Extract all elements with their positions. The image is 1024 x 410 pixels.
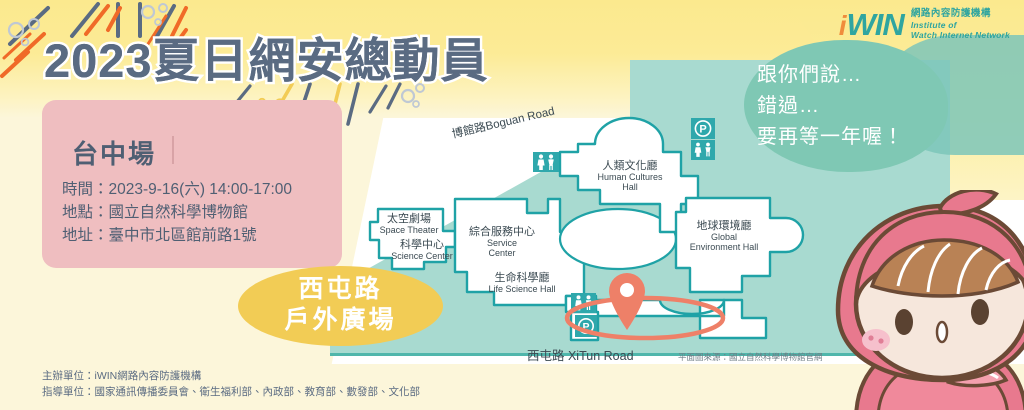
- event-time: 時間：2023-9-16(六) 14:00-17:00: [62, 178, 292, 201]
- speech-line-1: 跟你們說…: [757, 60, 947, 91]
- footer-supervisors: 指導單位：國家通訊傳播委員會、衛生福利部、內政部、教育部、數發部、文化部: [42, 384, 420, 400]
- logo-org-en-1: Institute of: [911, 20, 1010, 30]
- life-science-zh: 生命科學廳: [473, 272, 571, 284]
- iwin-logo[interactable]: i WIN 網路內容防護機構 Institute of Watch Intern…: [839, 8, 1010, 40]
- info-divider: [172, 136, 174, 164]
- service-center-en-1: Service: [461, 238, 543, 248]
- map-label-life-science-hall: 生命科學廳 Life Science Hall: [473, 272, 571, 294]
- event-venue: 地點：國立自然科學博物館: [62, 201, 292, 224]
- human-cultures-zh: 人類文化廳: [574, 160, 686, 172]
- science-center-en: Science Center: [384, 251, 460, 261]
- science-center-zh: 科學中心: [384, 239, 460, 251]
- map-label-human-cultures-hall: 人類文化廳 Human Cultures Hall: [574, 160, 686, 192]
- road-label-xitun-text: 西屯路 XiTun Road: [527, 349, 634, 363]
- logo-win-mark: WIN: [847, 9, 904, 40]
- service-center-en-2: Center: [461, 248, 543, 258]
- event-address: 地址：臺中市北區館前路1號: [62, 224, 292, 247]
- logo-org-en-2: Watch Internet Network: [911, 30, 1010, 40]
- global-env-en-2: Environment Hall: [668, 242, 780, 252]
- venue-badge-text: 西屯路 戶外廣場: [238, 274, 443, 336]
- event-city-label: 台中場: [72, 134, 156, 171]
- venue-badge-line2: 戶外廣場: [238, 305, 443, 336]
- global-env-zh: 地球環境廳: [668, 220, 780, 232]
- map-source-credit: 平面圖來源：國立自然科學博物館官網: [678, 351, 823, 363]
- human-cultures-en-1: Human Cultures: [574, 172, 686, 182]
- logo-org-zh: 網路內容防護機構: [911, 8, 1010, 20]
- map-label-space-theater: 太空劇場 Space Theater: [373, 213, 445, 235]
- event-banner: 博館路Boguan Road 西屯路 XiTun Road 太空劇場 Space…: [0, 0, 1024, 410]
- event-details: 時間：2023-9-16(六) 14:00-17:00 地點：國立自然科學博物館…: [62, 178, 292, 247]
- map-label-service-center: 綜合服務中心 Service Center: [461, 226, 543, 258]
- life-science-en: Life Science Hall: [473, 284, 571, 294]
- speech-line-2: 錯過…: [757, 91, 947, 122]
- service-center-zh: 綜合服務中心: [461, 226, 543, 238]
- map-label-science-center: 科學中心 Science Center: [384, 239, 460, 261]
- speech-line-3: 要再等一年喔！: [757, 122, 947, 153]
- svg-text:P: P: [699, 124, 706, 136]
- space-theater-zh: 太空劇場: [373, 213, 445, 225]
- logo-org-text: 網路內容防護機構 Institute of Watch Internet Net…: [911, 8, 1010, 40]
- speech-bubble-text: 跟你們說… 錯過… 要再等一年喔！: [757, 60, 947, 153]
- footer: 主辦單位：iWIN網路內容防護機構 指導單位：國家通訊傳播委員會、衛生福利部、內…: [42, 368, 420, 400]
- mascot-character: [820, 190, 1024, 410]
- page-title: 2023夏日網安總動員: [44, 22, 489, 91]
- human-cultures-en-2: Hall: [574, 182, 686, 192]
- global-env-en-1: Global: [668, 232, 780, 242]
- parking-icon: P: [691, 118, 715, 160]
- space-theater-en: Space Theater: [373, 225, 445, 235]
- restroom-icon: [533, 152, 559, 172]
- logo-i-mark: i: [839, 12, 847, 40]
- map-pin-icon: [606, 271, 648, 331]
- venue-badge-line1: 西屯路: [238, 274, 443, 305]
- map-label-global-environment-hall: 地球環境廳 Global Environment Hall: [668, 220, 780, 252]
- footer-organizer: 主辦單位：iWIN網路內容防護機構: [42, 368, 420, 384]
